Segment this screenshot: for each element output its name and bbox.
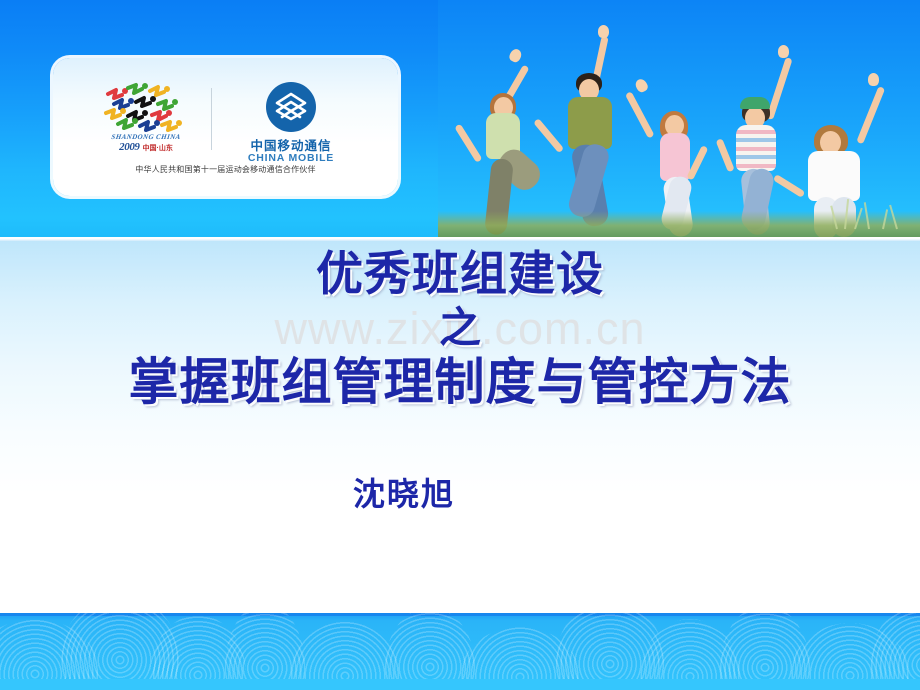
page-subtitle: 掌握班组管理制度与管控方法 <box>0 357 920 407</box>
running-figures-icon <box>98 82 194 134</box>
shandong-games-logo: SHANDONG CHINA 2009 中国·山东 <box>94 82 198 156</box>
author-name: 沈晓旭 <box>0 469 920 515</box>
logo-divider <box>211 88 212 150</box>
games-year-row: 2009 中国·山东 <box>94 142 198 153</box>
games-year: 2009 <box>119 142 139 153</box>
bottom-banner-foot <box>0 679 920 690</box>
games-wordmark-en: SHANDONG CHINA <box>94 134 199 141</box>
slide-title-block: 优秀班组建设 之 掌握班组管理制度与管控方法 <box>0 241 920 407</box>
title-connector: 之 <box>0 307 920 349</box>
person-figure <box>548 27 638 237</box>
jumping-people-photo <box>438 0 920 237</box>
partner-tagline: 中华人民共和国第十一届运动会移动通信合作伙伴 <box>53 164 398 175</box>
games-wordmark-cn: 中国·山东 <box>143 145 173 152</box>
china-mobile-name-cn: 中国移动通信 <box>225 139 357 153</box>
grass-ground <box>438 211 920 237</box>
bottom-banner-rule <box>0 613 920 616</box>
logo-row: SHANDONG CHINA 2009 中国·山东 <box>53 80 398 158</box>
games-wordmark: SHANDONG CHINA 2009 中国·山东 <box>94 134 198 153</box>
person-figure <box>634 51 718 237</box>
page-title: 优秀班组建设 <box>0 250 920 297</box>
china-mobile-mark-icon <box>265 81 317 133</box>
bottom-banner <box>0 613 920 690</box>
slide-content-area: www.zixin.com.cn 优秀班组建设 之 掌握班组管理制度与管控方法 … <box>0 241 920 613</box>
person-figure <box>466 37 552 237</box>
presentation-slide: SHANDONG CHINA 2009 中国·山东 <box>0 0 920 690</box>
top-banner: SHANDONG CHINA 2009 中国·山东 <box>0 0 920 237</box>
sponsor-logo-card: SHANDONG CHINA 2009 中国·山东 <box>53 58 398 196</box>
china-mobile-logo: 中国移动通信 CHINA MOBILE <box>225 81 357 157</box>
